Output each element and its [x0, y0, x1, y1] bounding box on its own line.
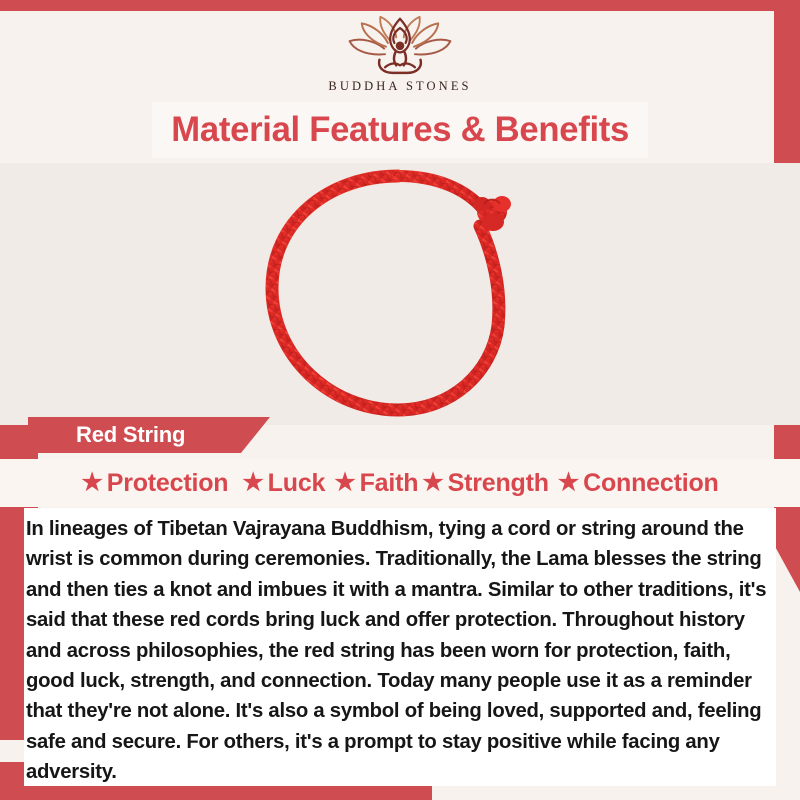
product-photo [0, 163, 800, 425]
brand-header: BUDDHA STONES [0, 11, 800, 101]
material-label-banner: Red String [28, 417, 270, 453]
benefit-faith: ★ Faith [332, 469, 420, 498]
benefit-luck: ★ Luck [235, 469, 332, 498]
benefit-label: Strength [448, 469, 549, 498]
page-title: Material Features & Benefits [171, 110, 629, 150]
benefit-label: Protection [107, 469, 229, 498]
brand-name: BUDDHA STONES [328, 79, 471, 94]
description-panel: In lineages of Tibetan Vajrayana Buddhis… [24, 508, 776, 786]
benefit-strength: ★ Strength [420, 469, 551, 498]
benefit-label: Luck [268, 469, 326, 498]
lotus-meditation-icon [344, 15, 456, 77]
frame-top-bar [0, 0, 800, 11]
title-banner: Material Features & Benefits [152, 102, 648, 158]
benefits-row: ★ Protection ★ Luck ★ Faith ★ Strength ★… [0, 459, 800, 507]
poster-root: BUDDHA STONES Material Features & Benefi… [0, 0, 800, 800]
material-label: Red String [28, 422, 185, 448]
star-icon: ★ [242, 471, 263, 495]
benefit-label: Connection [583, 469, 719, 498]
star-icon: ★ [334, 471, 355, 495]
star-icon: ★ [422, 471, 443, 495]
star-icon: ★ [81, 471, 102, 495]
star-icon: ★ [558, 471, 579, 495]
description-text: In lineages of Tibetan Vajrayana Buddhis… [26, 514, 770, 788]
benefit-connection: ★ Connection [551, 469, 726, 498]
benefit-label: Faith [360, 469, 419, 498]
benefit-protection: ★ Protection [74, 469, 235, 498]
red-string-bracelet-image [230, 163, 570, 425]
